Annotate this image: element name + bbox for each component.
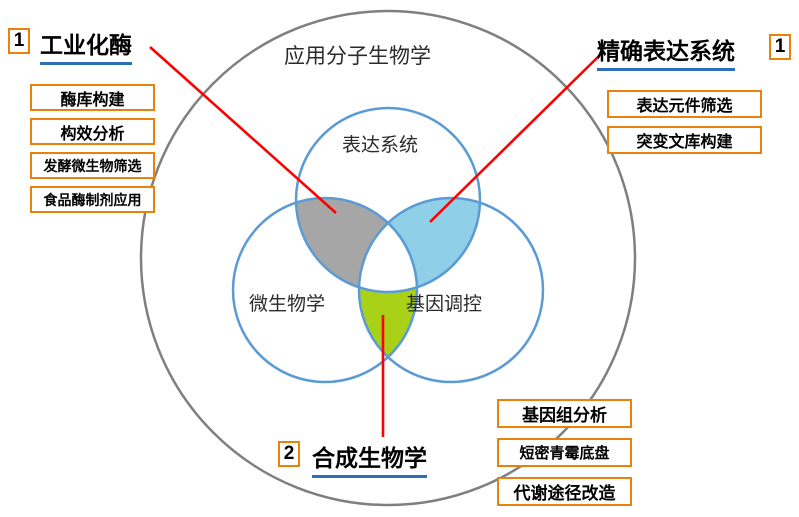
tag-precise-expression-0: 表达元件筛选 <box>607 90 762 118</box>
circle-label-microbiology: 微生物学 <box>249 289 325 316</box>
marker-number-precise-expression: 1 <box>769 34 791 60</box>
diagram-canvas: 应用分子生物学 表达系统 微生物学 基因调控 1 工业化酶 酶库构建 构效分析 … <box>0 0 799 517</box>
tag-synthetic-biology-1: 短密青霉底盘 <box>497 438 632 467</box>
marker-number-synthetic-biology: 2 <box>278 441 300 467</box>
circle-label-gene-regulation: 基因调控 <box>406 289 482 316</box>
outer-circle-label: 应用分子生物学 <box>284 40 431 70</box>
tag-industrial-enzyme-3: 食品酶制剂应用 <box>30 186 155 213</box>
tag-industrial-enzyme-2: 发酵微生物筛选 <box>30 152 155 179</box>
tag-industrial-enzyme-0: 酶库构建 <box>30 84 155 111</box>
circle-label-expression: 表达系统 <box>342 130 418 157</box>
heading-industrial-enzyme: 工业化酶 <box>40 26 132 65</box>
marker-number-industrial-enzyme: 1 <box>8 28 30 54</box>
tag-industrial-enzyme-1: 构效分析 <box>30 118 155 145</box>
heading-synthetic-biology: 合成生物学 <box>312 439 427 478</box>
tag-synthetic-biology-0: 基因组分析 <box>497 399 632 428</box>
tag-synthetic-biology-2: 代谢途径改造 <box>497 477 632 506</box>
heading-precise-expression: 精确表达系统 <box>597 32 735 71</box>
tag-precise-expression-1: 突变文库构建 <box>607 126 762 154</box>
